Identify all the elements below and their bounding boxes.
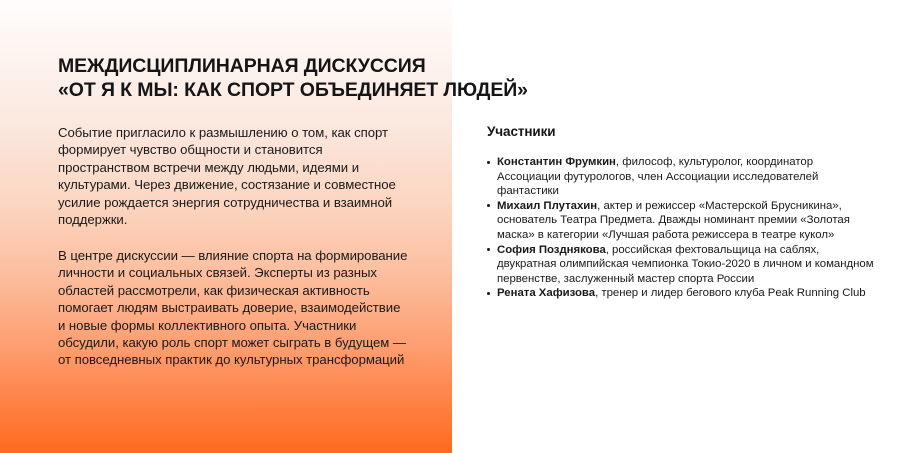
participant-name: София Позднякова (497, 244, 606, 256)
page-title: МЕЖДИСЦИПЛИНАРНАЯ ДИСКУССИЯ «ОТ Я К МЫ: … (58, 54, 478, 102)
presentation-slide: МЕЖДИСЦИПЛИНАРНАЯ ДИСКУССИЯ «ОТ Я К МЫ: … (0, 0, 900, 453)
participant-name: Рената Хафизова (497, 287, 595, 299)
participant-name: Константин Фрумкин (497, 156, 616, 168)
participant-name: Михаил Плутахин (497, 200, 597, 212)
list-item: Рената Хафизова, тренер и лидер бегового… (487, 286, 875, 301)
bullet-icon (487, 204, 490, 207)
participants-list: Константин Фрумкин, философ, культуролог… (487, 155, 875, 301)
participants-column: Участники Константин Фрумкин, философ, к… (487, 0, 877, 453)
participants-heading: Участники (487, 123, 555, 141)
body-paragraph-2: В центре дискуссии — влияние спорта на ф… (58, 247, 410, 369)
page-title-line-1: МЕЖДИСЦИПЛИНАРНАЯ ДИСКУССИЯ (58, 54, 478, 78)
participant-description: , тренер и лидер бегового клуба Peak Run… (595, 287, 866, 299)
list-item: Михаил Плутахин, актер и режиссер «Масте… (487, 199, 875, 243)
body-paragraph-1: Событие пригласило к размышлению о том, … (58, 124, 410, 228)
page-title-line-2: «ОТ Я К МЫ: КАК СПОРТ ОБЪЕДИНЯЕТ ЛЮДЕЙ» (58, 78, 478, 102)
bullet-icon (487, 161, 490, 164)
bullet-icon (487, 292, 490, 295)
list-item: София Позднякова, российская фехтовальщи… (487, 243, 875, 287)
bullet-icon (487, 248, 490, 251)
list-item: Константин Фрумкин, философ, культуролог… (487, 155, 875, 199)
left-content-column: МЕЖДИСЦИПЛИНАРНАЯ ДИСКУССИЯ «ОТ Я К МЫ: … (58, 0, 408, 453)
